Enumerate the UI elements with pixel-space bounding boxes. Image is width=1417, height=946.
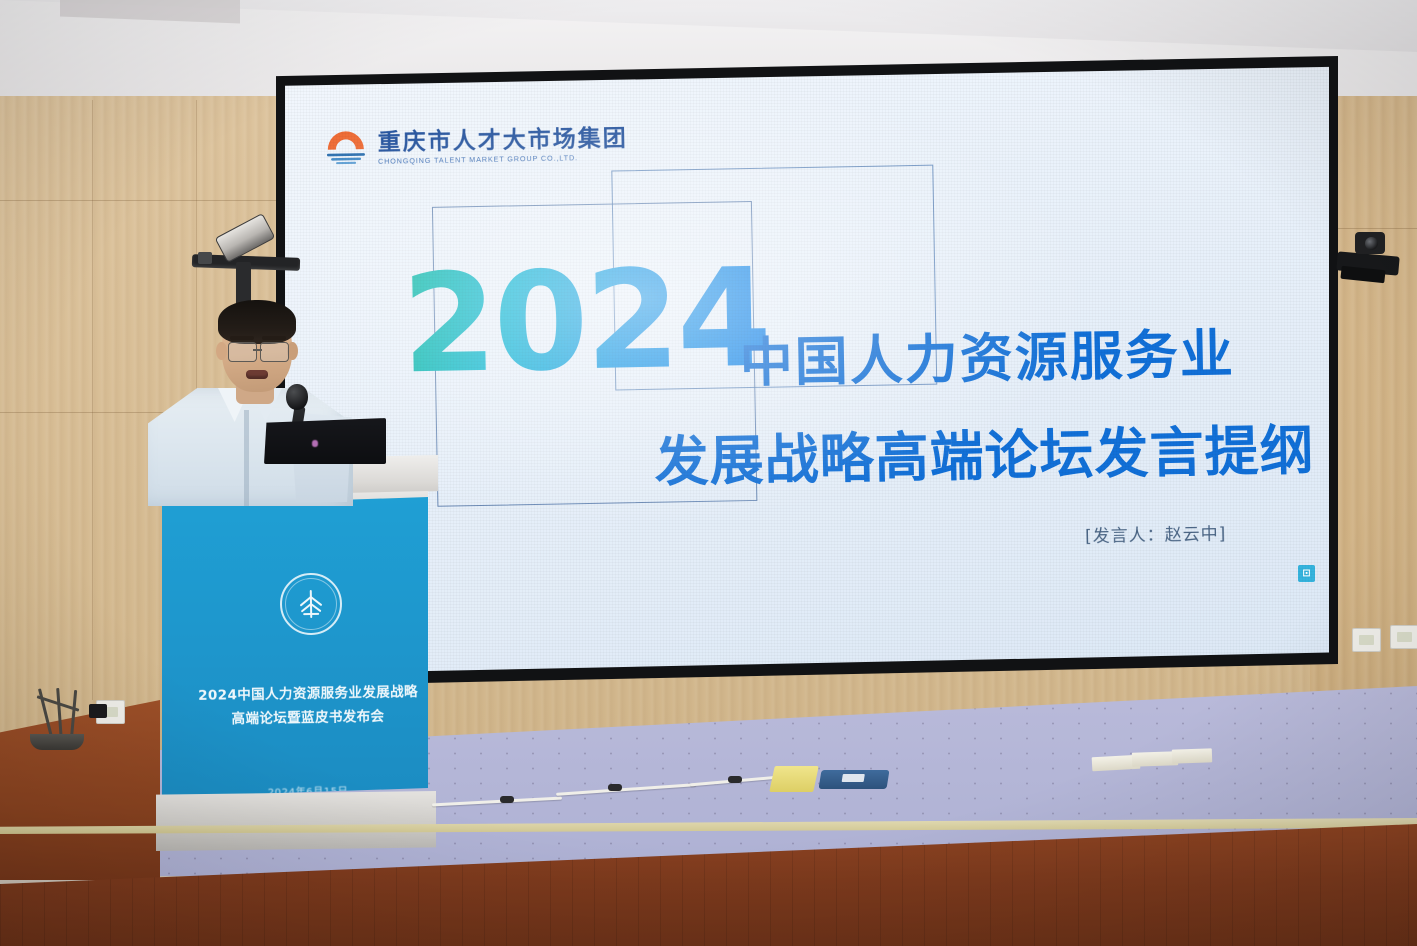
presenter-brow-left: [230, 336, 254, 340]
slide-year: 2024: [401, 251, 770, 394]
laptop-screen-highlight: [312, 440, 318, 447]
stand-base: [30, 734, 84, 750]
outlet-face-2: [1397, 632, 1412, 642]
screen-corner-badge-icon: ⊡: [1298, 565, 1315, 582]
podium: 2024中国人力资源服务业发展战略 高端论坛暨蓝皮书发布会 2024年6月15日: [148, 455, 438, 855]
presenter-brow-right: [262, 336, 286, 340]
slide-title-line2: 发展战略高端论坛发言提纲: [654, 406, 1315, 497]
camera-lens: [1365, 237, 1378, 250]
slide-title-line1: 中国人力资源服务业: [739, 312, 1235, 397]
conference-room-photo: 重庆市人才大市场集团 CHONGQING TALENT MARKET GROUP…: [0, 0, 1417, 946]
cable-connector-1: [500, 796, 514, 803]
logo-chinese-name: 重庆市人才大市场集团: [378, 127, 628, 155]
spotlight-knob: [198, 252, 212, 264]
right-wall-outlet-2: [1390, 625, 1417, 649]
logo-text-block: 重庆市人才大市场集团 CHONGQING TALENT MARKET GROUP…: [378, 127, 629, 165]
glasses-lens-right-icon: [260, 342, 289, 362]
outlet-face-1: [1359, 635, 1374, 645]
glasses-bridge: [253, 349, 262, 351]
cable-connector-3: [728, 776, 742, 783]
paper-sheet-3: [1172, 748, 1212, 763]
outlet-plug: [89, 704, 107, 718]
presenter: [140, 300, 370, 500]
handheld-microphone-icon: [286, 384, 308, 410]
university-seal-emblem-icon: [279, 572, 342, 635]
sunrise-arch-logo-icon: [322, 125, 369, 166]
laptop-icon[interactable]: [264, 418, 386, 464]
stand-leg-3: [70, 690, 77, 740]
right-wall-outlet-1: [1352, 628, 1381, 652]
power-outlet-icon: [96, 700, 125, 724]
slide-speaker-line: [发言人：赵云中]: [1085, 519, 1227, 547]
wall-camera-icon: [1335, 232, 1401, 287]
presenter-shirt-placket: [244, 410, 249, 506]
yellow-adapter-box: [769, 766, 819, 792]
device-label: [842, 774, 865, 782]
screen-surface: 重庆市人才大市场集团 CHONGQING TALENT MARKET GROUP…: [285, 65, 1329, 677]
presenter-ear-left: [216, 342, 227, 360]
stand-leg-2: [56, 688, 63, 740]
wall-seam-upper: [0, 200, 286, 201]
podium-banner-line2: 高端论坛暨蓝皮书发布会: [182, 704, 434, 728]
emblem-glyph: [292, 585, 331, 624]
cable-connector-2: [608, 784, 622, 791]
presenter-mouth: [246, 370, 268, 379]
stage-spotlight-icon: [192, 222, 300, 284]
podium-front-banner: 2024中国人力资源服务业发展战略 高端论坛暨蓝皮书发布会 2024年6月15日: [162, 497, 428, 797]
podium-base: [156, 791, 436, 851]
glasses-lens-left-icon: [228, 342, 257, 362]
blue-device-box: [818, 770, 889, 789]
company-logo: 重庆市人才大市场集团 CHONGQING TALENT MARKET GROUP…: [322, 120, 628, 166]
podium-banner-line1: 2024中国人力资源服务业发展战略: [182, 680, 434, 704]
wall-vseam-1: [92, 100, 93, 700]
